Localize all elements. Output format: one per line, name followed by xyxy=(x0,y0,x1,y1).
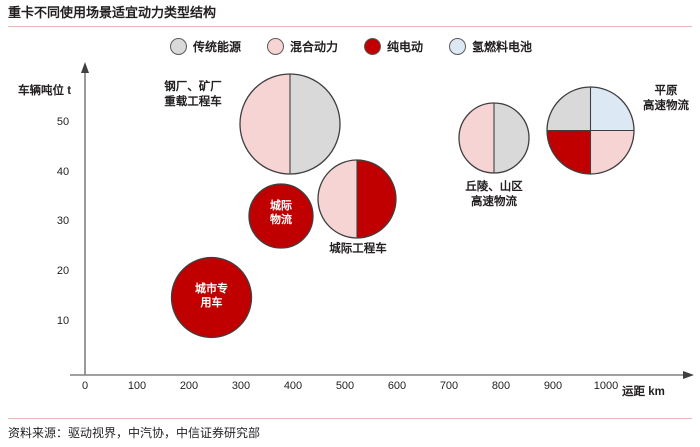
bubble-label-plain-highway-logistics: 平原 高速物流 xyxy=(634,84,698,114)
bubble-intercity-engineering-truck[interactable] xyxy=(316,158,398,240)
bubble-segment-bev xyxy=(249,184,313,248)
footer-divider xyxy=(8,418,692,419)
x-tick-700: 700 xyxy=(438,380,460,392)
x-tick-500: 500 xyxy=(334,380,356,392)
x-tick-300: 300 xyxy=(230,380,252,392)
bubble-label-line2: 重载工程车 xyxy=(164,96,222,108)
bubble-segment-bev xyxy=(357,160,396,238)
bubble-segment-conventional xyxy=(494,103,529,173)
x-tick-600: 600 xyxy=(386,380,408,392)
x-tick-200: 200 xyxy=(178,380,200,392)
x-tick-0: 0 xyxy=(74,380,96,392)
bubble-label-steel-mine-heavy-truck: 钢厂、矿厂 重载工程车 xyxy=(150,80,236,110)
chart-plot-area: 车辆吨位 t 运距 km 50 40 30 20 10 0 100 200 30… xyxy=(0,0,700,400)
bubble-urban-special-vehicle[interactable]: 城市专 用车 xyxy=(170,256,253,339)
x-tick-1000: 1000 xyxy=(592,380,620,392)
bubble-label-line1: 平原 xyxy=(655,85,678,97)
bubble-label-hilly-mountain-highway-logistics: 丘陵、山区 高速物流 xyxy=(448,180,540,210)
y-tick-20: 20 xyxy=(52,265,74,277)
source-note: 资料来源：驱动视界，中汽协，中信证券研究部 xyxy=(8,424,260,441)
y-tick-40: 40 xyxy=(52,166,74,178)
bubble-label-line2: 高速物流 xyxy=(471,196,517,208)
y-tick-10: 10 xyxy=(52,315,74,327)
y-axis-arrow-icon xyxy=(81,62,89,73)
bubble-segment-hybrid xyxy=(318,160,357,238)
bubble-intercity-logistics[interactable]: 城际 物流 xyxy=(248,183,314,249)
x-tick-900: 900 xyxy=(542,380,564,392)
bubble-hilly-mountain-highway-logistics[interactable] xyxy=(457,101,531,175)
bubble-label-line2: 高速物流 xyxy=(643,100,689,112)
x-tick-800: 800 xyxy=(490,380,512,392)
bubble-plain-highway-logistics[interactable] xyxy=(545,85,636,176)
y-axis-title: 车辆吨位 t xyxy=(18,82,71,98)
bubble-label-line1: 钢厂、矿厂 xyxy=(164,81,222,93)
bubble-segment-hybrid xyxy=(459,103,494,173)
bubble-label-intercity-engineering-truck: 城际工程车 xyxy=(312,242,404,257)
y-tick-50: 50 xyxy=(52,116,74,128)
bubble-segment-hybrid xyxy=(240,74,290,174)
bubble-label-line1: 丘陵、山区 xyxy=(465,181,523,193)
x-axis-arrow-icon xyxy=(683,371,694,379)
bubble-segment-bev xyxy=(172,258,252,338)
bubble-label-line1: 城际工程车 xyxy=(329,243,387,255)
x-tick-100: 100 xyxy=(126,380,148,392)
x-axis-title: 运距 km xyxy=(622,383,665,399)
x-tick-400: 400 xyxy=(282,380,304,392)
y-tick-30: 30 xyxy=(52,215,74,227)
